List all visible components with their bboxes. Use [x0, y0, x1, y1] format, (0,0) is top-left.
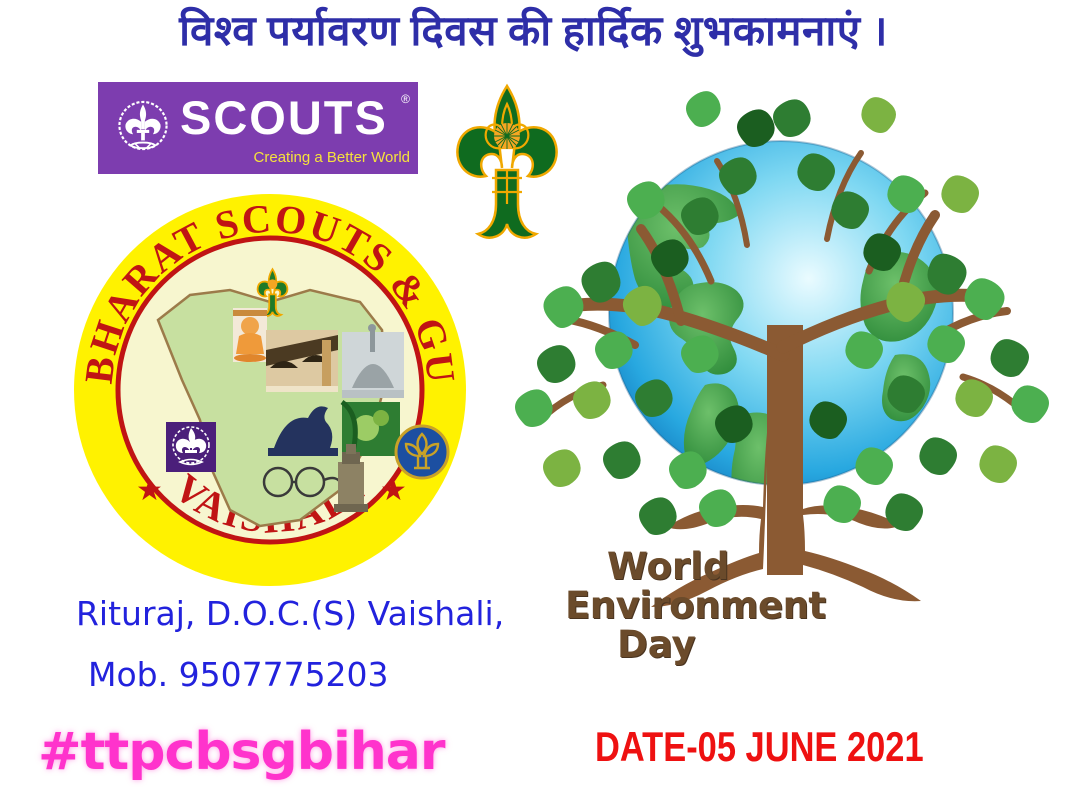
bharat-scouts-guides-vaishali-badge: THE BHARAT SCOUTS & GUIDES VAISHALI ★ ★: [70, 190, 470, 590]
badge-star-right-icon: ★: [380, 474, 407, 507]
gandhi-setu-bridge-image: [266, 330, 338, 392]
event-date-text: DATE-05 JUNE 2021: [595, 723, 924, 771]
world-environment-day-text: World Environment Day: [565, 548, 825, 665]
wosm-fleur-de-lis-icon: [112, 97, 174, 159]
badge-star-left-icon: ★: [136, 474, 163, 507]
wed-line-2: Environment: [565, 587, 825, 626]
vishwa-shanti-stupa-image: [342, 324, 404, 398]
wed-line-3: Day: [617, 626, 825, 665]
scouts-tagline: Creating a Better World: [254, 149, 410, 166]
poster-canvas: विश्व पर्यावरण दिवस की हार्दिक शुभकामनाए…: [0, 0, 1067, 800]
scouts-wordmark: SCOUTS: [180, 90, 388, 145]
contact-name-line: Rituraj, D.O.C.(S) Vaishali,: [76, 594, 504, 633]
wosm-purple-badge-icon: [166, 422, 216, 472]
page-title: विश्व पर्यावरण दिवस की हार्दिक शुभकामनाए…: [0, 8, 1067, 56]
scouts-text-block: SCOUTS ® Creating a Better World: [180, 82, 412, 174]
hashtag-text: #ttpcbsgbihar: [38, 722, 445, 782]
contact-mobile-line: Mob. 9507775203: [88, 655, 389, 694]
waggbs-blue-trefoil-badge-icon: [396, 426, 448, 478]
registered-trademark-icon: ®: [401, 92, 410, 106]
scouts-logo-banner: SCOUTS ® Creating a Better World: [98, 82, 418, 174]
wed-line-1: World: [607, 548, 825, 587]
lion-pillar-statue-image: [266, 398, 340, 460]
mahavir-statue-image: [233, 308, 267, 362]
